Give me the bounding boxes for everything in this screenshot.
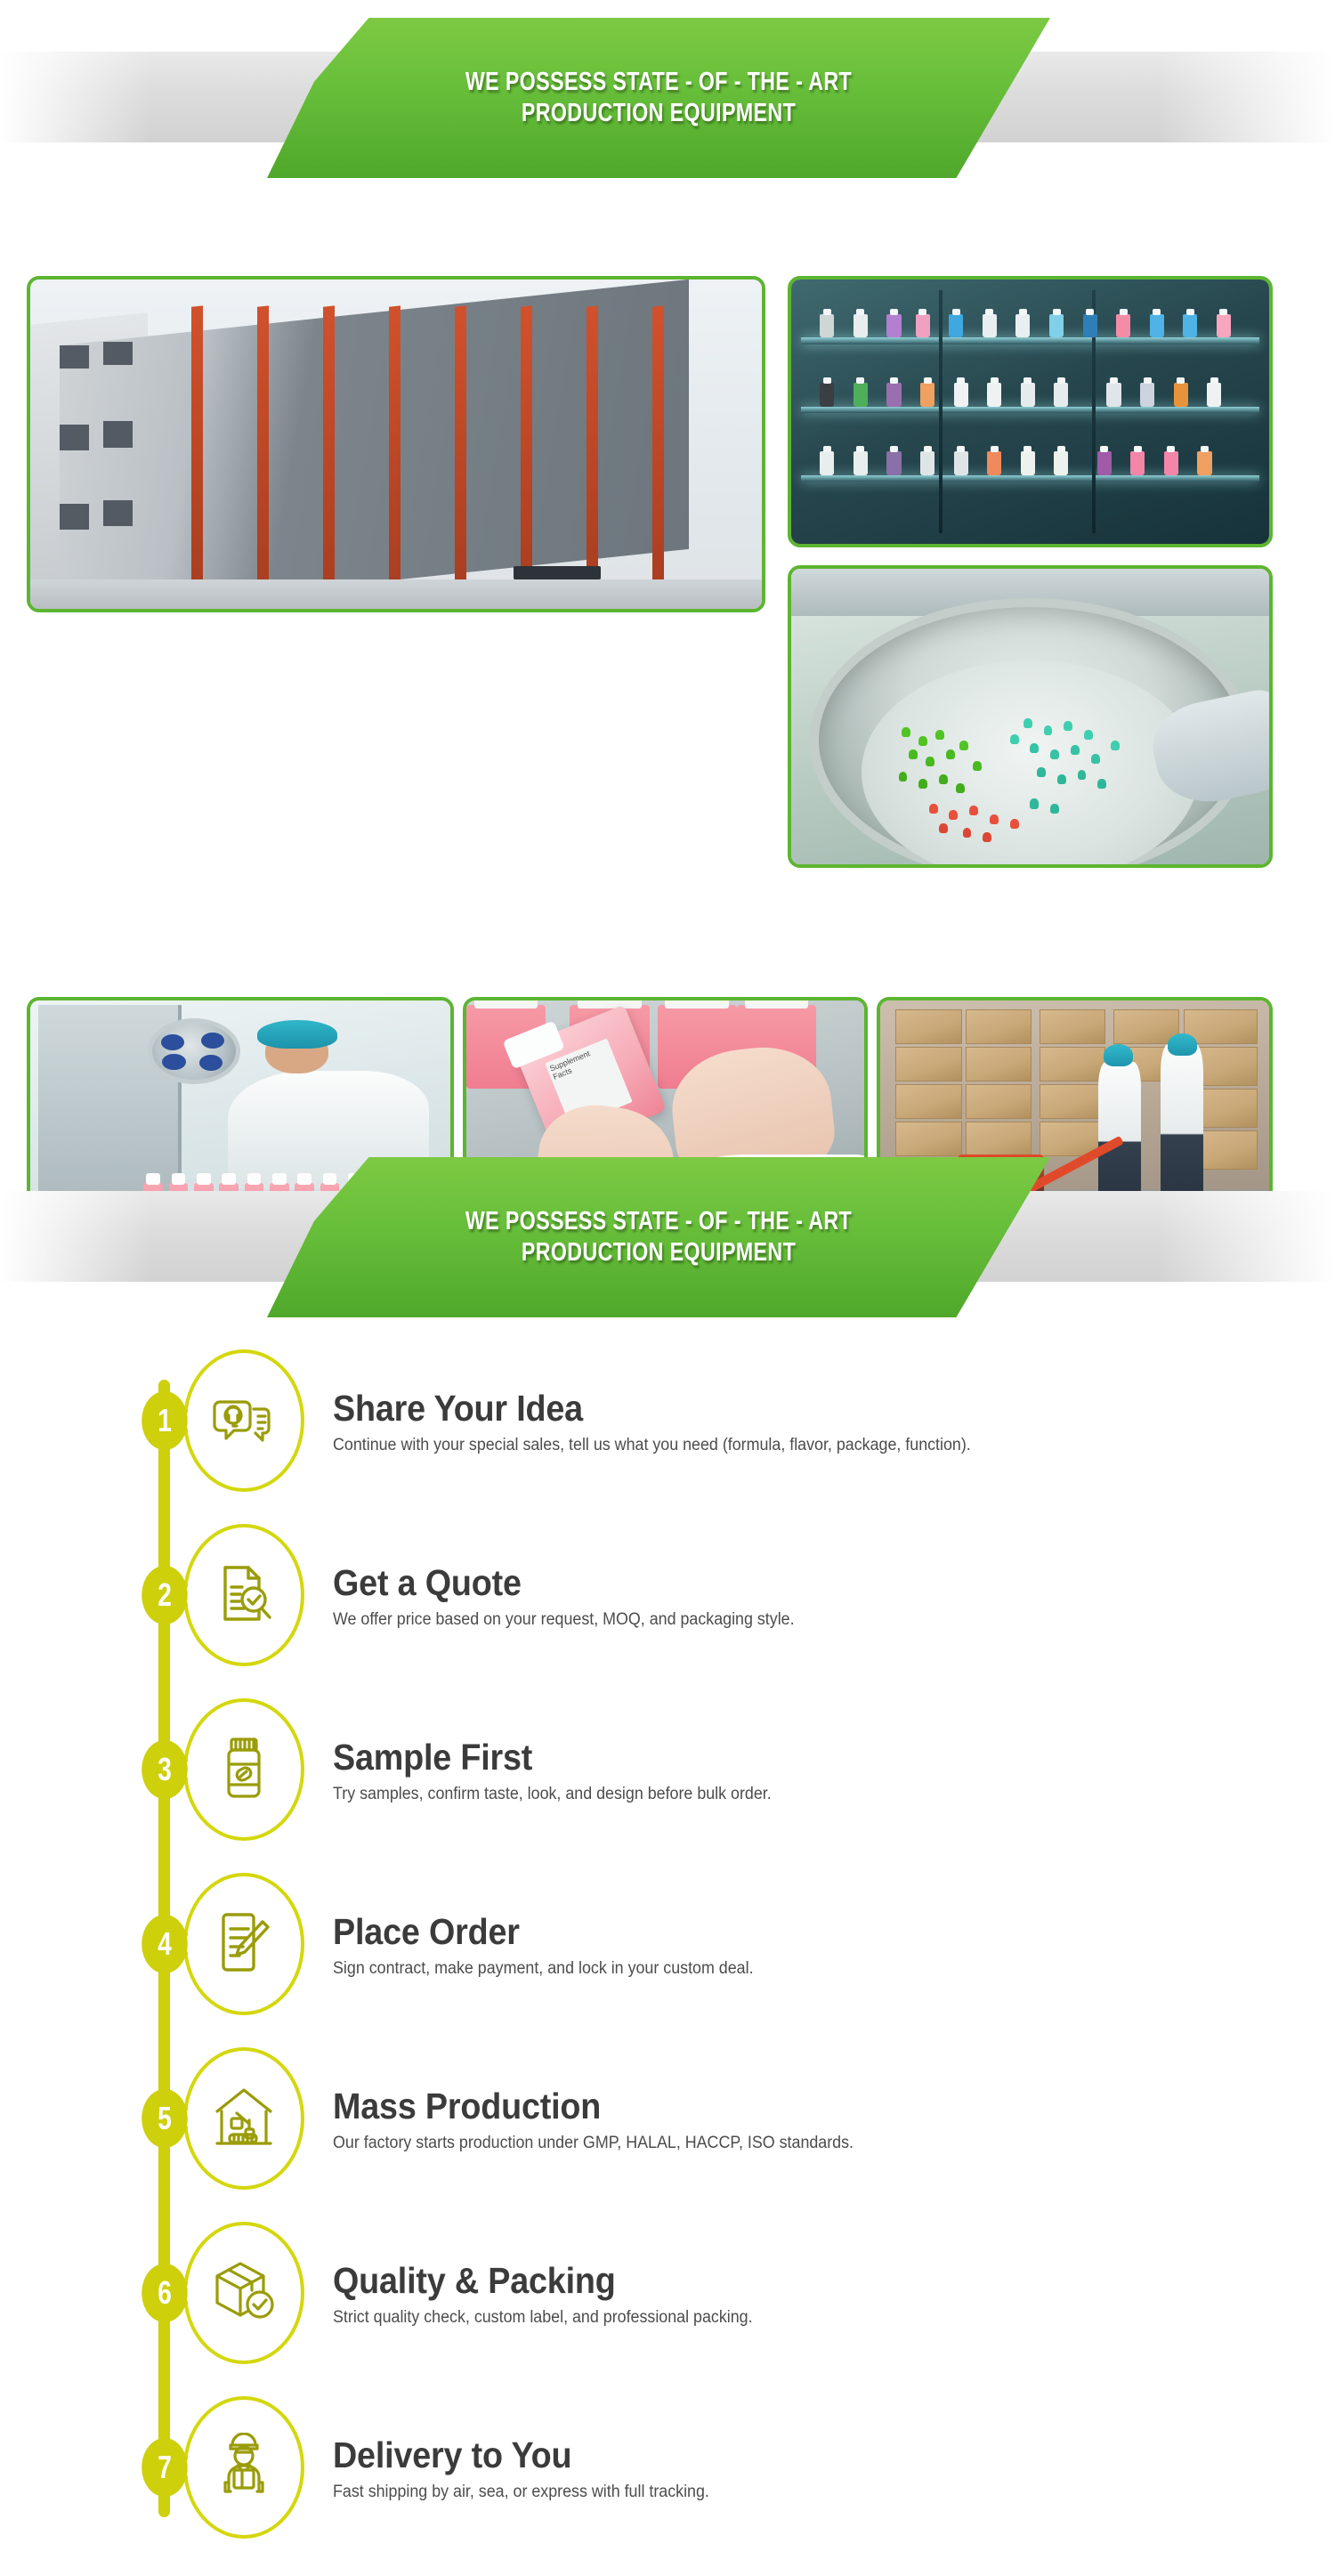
document-pen-icon — [213, 1909, 275, 1980]
step-item-7: 7 — [0, 2380, 1335, 2555]
banner-top-heading: WE POSSESS STATE - OF - THE - ART PRODUC… — [431, 67, 886, 130]
step-item-5: 5 — [0, 2031, 1335, 2206]
supplement-bottle-icon — [214, 1735, 274, 1805]
banner-bottom-line2: PRODUCTION EQUIPMENT — [431, 1237, 886, 1268]
step-number-badge-1: 1 — [142, 1391, 187, 1450]
step-text-1: Share Your Idea Continue with your speci… — [333, 1386, 1012, 1456]
step-item-3: 3 Sample First Try samples, — [0, 1682, 1335, 1857]
document-magnifier-check-icon — [211, 1560, 277, 1631]
process-steps-list: 1 Share Your Idea — [0, 1317, 1335, 2576]
step-title-1: Share Your Idea — [333, 1389, 958, 1428]
banner-top-line1: WE POSSESS STATE - OF - THE - ART — [465, 68, 852, 96]
delivery-person-icon — [213, 2433, 275, 2503]
step-icon-container-6 — [183, 2222, 304, 2364]
banner-top-green-shape: WE POSSESS STATE - OF - THE - ART PRODUC… — [267, 18, 1050, 178]
banner-bottom: WE POSSESS STATE - OF - THE - ART PRODUC… — [0, 1139, 1335, 1317]
step-icon-container-7 — [183, 2396, 304, 2539]
step-title-7: Delivery to You — [333, 2436, 701, 2475]
banner-top-line2: PRODUCTION EQUIPMENT — [431, 98, 886, 129]
step-desc-7: Fast shipping by air, sea, or express wi… — [333, 2482, 709, 2503]
step-icon-container-4 — [183, 1873, 304, 2015]
step-number-badge-7: 7 — [142, 2438, 187, 2497]
banner-bottom-heading: WE POSSESS STATE - OF - THE - ART PRODUC… — [431, 1206, 886, 1269]
step-text-6: Quality & Packing Strict quality check, … — [333, 2258, 780, 2329]
photo-product-shelves — [788, 276, 1273, 547]
step-icon-container-5 — [183, 2047, 304, 2190]
step-desc-4: Sign contract, make payment, and lock in… — [333, 1958, 754, 1980]
step-icon-container-2 — [183, 1524, 304, 1666]
step-text-3: Sample First Try samples, confirm taste,… — [333, 1735, 799, 1805]
step-desc-5: Our factory starts production under GMP,… — [333, 2133, 854, 2154]
step-icon-container-1 — [183, 1349, 304, 1492]
banner-bottom-line1: WE POSSESS STATE - OF - THE - ART — [465, 1207, 852, 1235]
step-title-4: Place Order — [333, 1913, 744, 1951]
step-number-badge-3: 3 — [142, 1740, 187, 1799]
factory-excavator-icon — [210, 2085, 278, 2153]
step-text-2: Get a Quote We offer price based on your… — [333, 1560, 824, 1631]
chat-support-icon — [211, 1386, 277, 1456]
step-desc-1: Continue with your special sales, tell u… — [333, 1435, 971, 1456]
page-root: WE POSSESS STATE - OF - THE - ART PRODUC… — [0, 0, 1335, 2576]
step-title-6: Quality & Packing — [333, 2262, 744, 2300]
step-title-3: Sample First — [333, 1738, 762, 1777]
photo-factory-building — [27, 276, 765, 612]
step-text-7: Delivery to You Fast shipping by air, se… — [333, 2433, 733, 2503]
step-title-2: Get a Quote — [333, 1564, 785, 1602]
step-desc-6: Strict quality check, custom label, and … — [333, 2307, 753, 2329]
step-item-6: 6 Quality & Packing Strict — [0, 2206, 1335, 2380]
step-title-5: Mass Production — [333, 2087, 843, 2126]
step-text-4: Place Order Sign contract, make payment,… — [333, 1909, 781, 1980]
step-text-5: Mass Production Our factory starts produ… — [333, 2084, 886, 2154]
step-number-badge-4: 4 — [142, 1915, 187, 1973]
photo-gummy-drum — [788, 565, 1273, 868]
step-item-1: 1 Share Your Idea — [0, 1333, 1335, 1508]
step-icon-container-3 — [183, 1698, 304, 1841]
box-check-icon — [210, 2258, 278, 2329]
photo-gallery: Supplement Facts — [0, 178, 1335, 1139]
step-item-2: 2 Get a Quote We offer pric — [0, 1508, 1335, 1682]
step-number-badge-5: 5 — [142, 2089, 187, 2148]
step-desc-3: Try samples, confirm taste, look, and de… — [333, 1784, 772, 1805]
banner-top: WE POSSESS STATE - OF - THE - ART PRODUC… — [0, 0, 1335, 178]
step-number-badge-2: 2 — [142, 1566, 187, 1624]
step-number-badge-6: 6 — [142, 2264, 187, 2322]
step-desc-2: We offer price based on your request, MO… — [333, 1609, 795, 1631]
step-item-4: 4 Place Order Sign contract, make paymen… — [0, 1857, 1335, 2031]
banner-bottom-green-shape: WE POSSESS STATE - OF - THE - ART PRODUC… — [267, 1157, 1050, 1317]
